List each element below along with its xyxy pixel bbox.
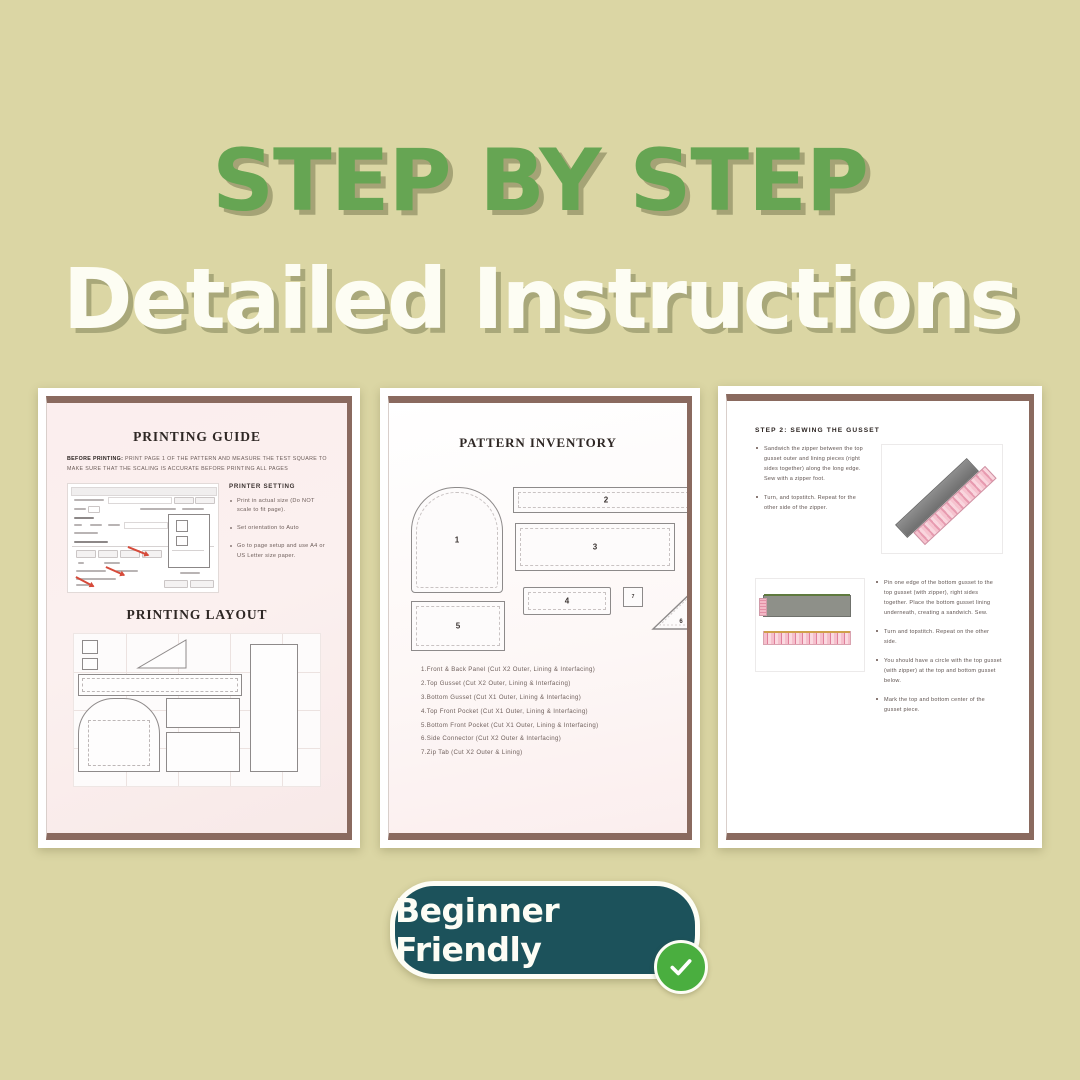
list-item: Turn, and topstitch. Repeat for the othe… <box>755 493 871 513</box>
list-item: Turn and topstitch. Repeat on the other … <box>875 627 1003 647</box>
printing-layout-diagram <box>73 633 321 787</box>
pattern-piece-7: 7 <box>623 587 643 607</box>
check-icon <box>654 940 708 994</box>
print-dialog-screenshot <box>67 483 219 593</box>
step-bottom-row: Pin one edge of the bottom gusset to the… <box>739 554 1017 724</box>
pattern-piece-6: 6 <box>651 587 687 633</box>
list-item: 5.Bottom Front Pocket (Cut X1 Outer, Lin… <box>421 719 661 733</box>
step-top-row: Sandwich the zipper between the top guss… <box>739 434 1017 554</box>
pattern-inventory-title: PATTERN INVENTORY <box>401 435 675 451</box>
card-frame: PATTERN INVENTORY 1 2 3 <box>388 396 692 840</box>
list-item: 7.Zip Tab (Cut X2 Outer & Lining) <box>421 746 661 760</box>
list-item-text: Top Front Pocket (Cut X1 Outer, Lining &… <box>427 708 588 715</box>
badge-label: Beginner Friendly <box>395 891 695 969</box>
printer-setting-heading: PRINTER SETTING <box>229 483 329 490</box>
printer-setting-block: PRINTER SETTING Print in actual size (Do… <box>227 483 329 593</box>
piece-number: 5 <box>412 622 504 631</box>
card-page: PRINTING GUIDE BEFORE PRINTING: PRINT PA… <box>47 403 347 833</box>
step-bottom-bullets: Pin one edge of the bottom gusset to the… <box>875 578 1003 724</box>
annotation-arrow-2 <box>106 566 125 576</box>
list-item: Print in actual size (Do NOT scale to fi… <box>229 497 329 517</box>
pattern-piece-3: 3 <box>515 523 675 571</box>
list-item: 3.Bottom Gusset (Cut X1 Outer, Lining & … <box>421 691 661 705</box>
list-item: Set orientation to Auto <box>229 524 329 534</box>
piece-number: 2 <box>514 496 687 505</box>
triangle-piece-icon <box>134 638 194 670</box>
step-top-bullets: Sandwich the zipper between the top guss… <box>755 444 871 554</box>
list-item: 4.Top Front Pocket (Cut X1 Outer, Lining… <box>421 705 661 719</box>
poster-canvas: STEP BY STEP Detailed Instructions PRINT… <box>0 0 1080 1080</box>
list-item: Pin one edge of the bottom gusset to the… <box>875 578 1003 618</box>
list-item-text: Bottom Front Pocket (Cut X1 Outer, Linin… <box>427 722 599 729</box>
list-item-text: Top Gusset (Cut X2 Outer, Lining & Inter… <box>427 680 571 687</box>
before-printing-note: BEFORE PRINTING: PRINT PAGE 1 OF THE PAT… <box>59 455 335 475</box>
pattern-inventory-list: 1.Front & Back Panel (Cut X2 Outer, Lini… <box>401 657 675 760</box>
gusset-piece-grey <box>763 595 851 617</box>
card-frame: STEP 2: SEWING THE GUSSET Sandwich the z… <box>726 394 1034 840</box>
list-item: 2.Top Gusset (Cut X2 Outer, Lining & Int… <box>421 677 661 691</box>
pattern-piece-4: 4 <box>523 587 611 615</box>
gusset-photo <box>755 578 865 672</box>
card-page: PATTERN INVENTORY 1 2 3 <box>389 403 687 833</box>
piece-number: 4 <box>524 597 610 606</box>
list-item: Sandwich the zipper between the top guss… <box>755 444 871 484</box>
before-printing-label: BEFORE PRINTING: <box>67 456 123 462</box>
card-step-sewing-gusset[interactable]: STEP 2: SEWING THE GUSSET Sandwich the z… <box>718 386 1042 848</box>
step-title: STEP 2: SEWING THE GUSSET <box>739 411 1017 434</box>
list-item-text: Front & Back Panel (Cut X2 Outer, Lining… <box>427 666 595 673</box>
card-page: STEP 2: SEWING THE GUSSET Sandwich the z… <box>727 401 1029 833</box>
check-glyph <box>668 954 694 980</box>
zipper-photo <box>881 444 1003 554</box>
list-item-text: Bottom Gusset (Cut X1 Outer, Lining & In… <box>427 694 581 701</box>
printer-setting-list: Print in actual size (Do NOT scale to fi… <box>229 497 329 562</box>
list-item: Go to page setup and use A4 or US Letter… <box>229 542 329 562</box>
piece-number: 7 <box>624 594 642 600</box>
list-item: 6.Side Connector (Cut X2 Outer & Interfa… <box>421 732 661 746</box>
list-item-text: Side Connector (Cut X2 Outer & Interfaci… <box>427 735 561 742</box>
page-title: STEP BY STEP <box>0 131 1080 231</box>
card-pattern-inventory[interactable]: PATTERN INVENTORY 1 2 3 <box>380 388 700 848</box>
pattern-piece-1: 1 <box>411 487 503 593</box>
page-subtitle: Detailed Instructions <box>0 250 1080 348</box>
gusset-piece-pink <box>763 631 851 645</box>
list-item: Mark the top and bottom center of the gu… <box>875 695 1003 715</box>
pattern-piece-5: 5 <box>411 601 505 651</box>
list-item-text: Zip Tab (Cut X2 Outer & Lining) <box>427 749 523 756</box>
card-frame: PRINTING GUIDE BEFORE PRINTING: PRINT PA… <box>46 396 352 840</box>
printing-layout-title: PRINTING LAYOUT <box>59 607 335 623</box>
pattern-pieces-diagram: 1 2 3 4 <box>407 461 669 657</box>
pattern-piece-2: 2 <box>513 487 687 513</box>
printer-settings-row: PRINTER SETTING Print in actual size (Do… <box>59 475 335 593</box>
list-item: 1.Front & Back Panel (Cut X2 Outer, Lini… <box>421 663 661 677</box>
piece-number: 3 <box>516 543 674 552</box>
list-item: You should have a circle with the top gu… <box>875 656 1003 686</box>
piece-number: 1 <box>412 536 502 545</box>
card-printing-guide[interactable]: PRINTING GUIDE BEFORE PRINTING: PRINT PA… <box>38 388 360 848</box>
printing-guide-title: PRINTING GUIDE <box>59 429 335 445</box>
